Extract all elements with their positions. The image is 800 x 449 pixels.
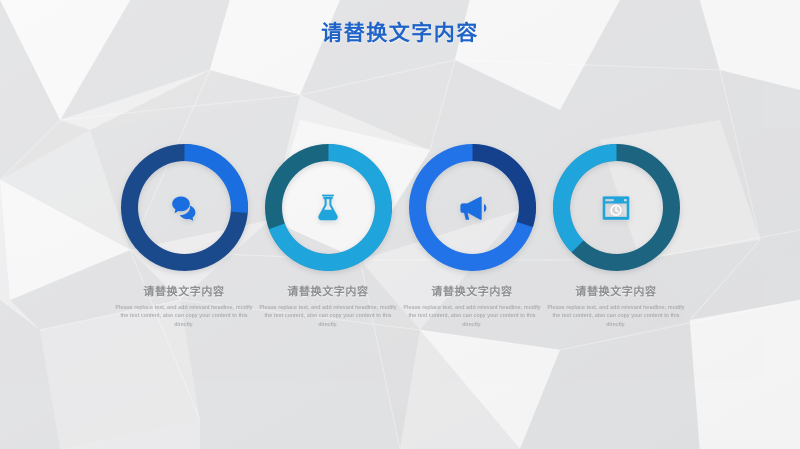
donut-ring-3-accent (472, 153, 527, 225)
infographic-caption-3: 请替换文字内容 Please replace text, and add rel… (400, 285, 544, 329)
caption-heading-3: 请替换文字内容 (400, 285, 544, 300)
infographic-item-1[interactable]: 请替换文字内容 Please replace text, and add rel… (112, 140, 256, 370)
infographic-item-2[interactable]: 请替换文字内容 Please replace text, and add rel… (256, 140, 400, 370)
infographic-items-row: 请替换文字内容 Please replace text, and add rel… (112, 140, 688, 370)
infographic-caption-4: 请替换文字内容 Please replace text, and add rel… (544, 285, 688, 329)
donut-ring-4[interactable] (549, 140, 684, 275)
donut-ring-1[interactable] (117, 140, 252, 275)
infographic-caption-2: 请替换文字内容 Please replace text, and add rel… (256, 285, 400, 329)
infographic-item-4[interactable]: 请替换文字内容 Please replace text, and add rel… (544, 140, 688, 370)
caption-body-3: Please replace text, and add relevant he… (400, 304, 544, 329)
caption-heading-1: 请替换文字内容 (112, 285, 256, 300)
donut-ring-3[interactable] (405, 140, 540, 275)
caption-body-1: Please replace text, and add relevant he… (112, 304, 256, 329)
donut-ring-4-accent (561, 153, 616, 247)
caption-body-2: Please replace text, and add relevant he… (256, 304, 400, 329)
caption-heading-2: 请替换文字内容 (256, 285, 400, 300)
donut-ring-2[interactable] (261, 140, 396, 275)
caption-heading-4: 请替换文字内容 (544, 285, 688, 300)
caption-body-4: Please replace text, and add relevant he… (544, 304, 688, 329)
infographic-item-3[interactable]: 请替换文字内容 Please replace text, and add rel… (400, 140, 544, 370)
infographic-caption-1: 请替换文字内容 Please replace text, and add rel… (112, 285, 256, 329)
donut-ring-1-accent (184, 153, 239, 213)
page-title: 请替换文字内容 (0, 17, 800, 47)
